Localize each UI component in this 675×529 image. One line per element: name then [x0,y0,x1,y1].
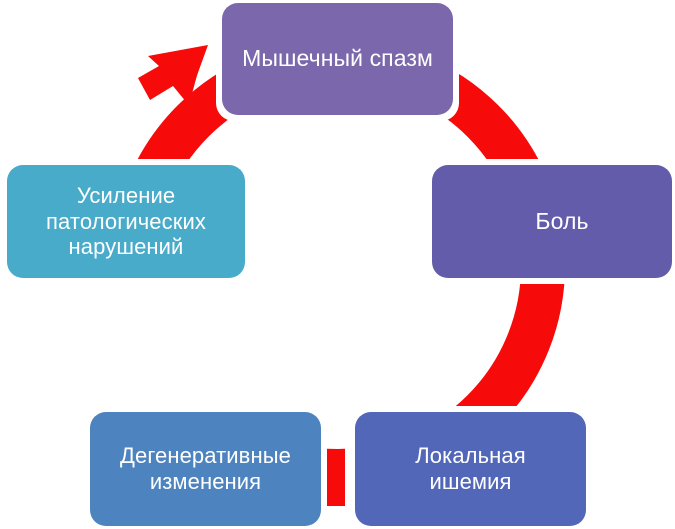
node-degenerative[interactable]: Дегенеративные изменения [90,412,321,526]
node-ischemia-line-1: Локальная [363,443,578,469]
cycle-diagram: Мышечный спазм Боль Локальная ишемия Дег… [0,0,675,529]
node-ischemia-line-2: ишемия [363,469,578,495]
node-worsening[interactable]: Усиление патологических нарушений [7,165,245,278]
node-degenerative-line-2: изменения [98,469,313,495]
node-pain-label: Боль [432,208,672,235]
node-muscle-spasm-label: Мышечный спазм [222,45,453,72]
node-ischemia-label: Локальная ишемия [355,443,586,495]
node-worsening-label: Усиление патологических нарушений [7,183,245,261]
node-worsening-line-3: нарушений [15,234,237,260]
node-muscle-spasm[interactable]: Мышечный спазм [222,3,453,115]
node-degenerative-label: Дегенеративные изменения [90,443,321,495]
node-worsening-line-2: патологических [15,209,237,235]
node-ischemia[interactable]: Локальная ишемия [355,412,586,526]
node-worsening-line-1: Усиление [15,183,237,209]
node-degenerative-line-1: Дегенеративные [98,443,313,469]
node-pain[interactable]: Боль [432,165,672,278]
